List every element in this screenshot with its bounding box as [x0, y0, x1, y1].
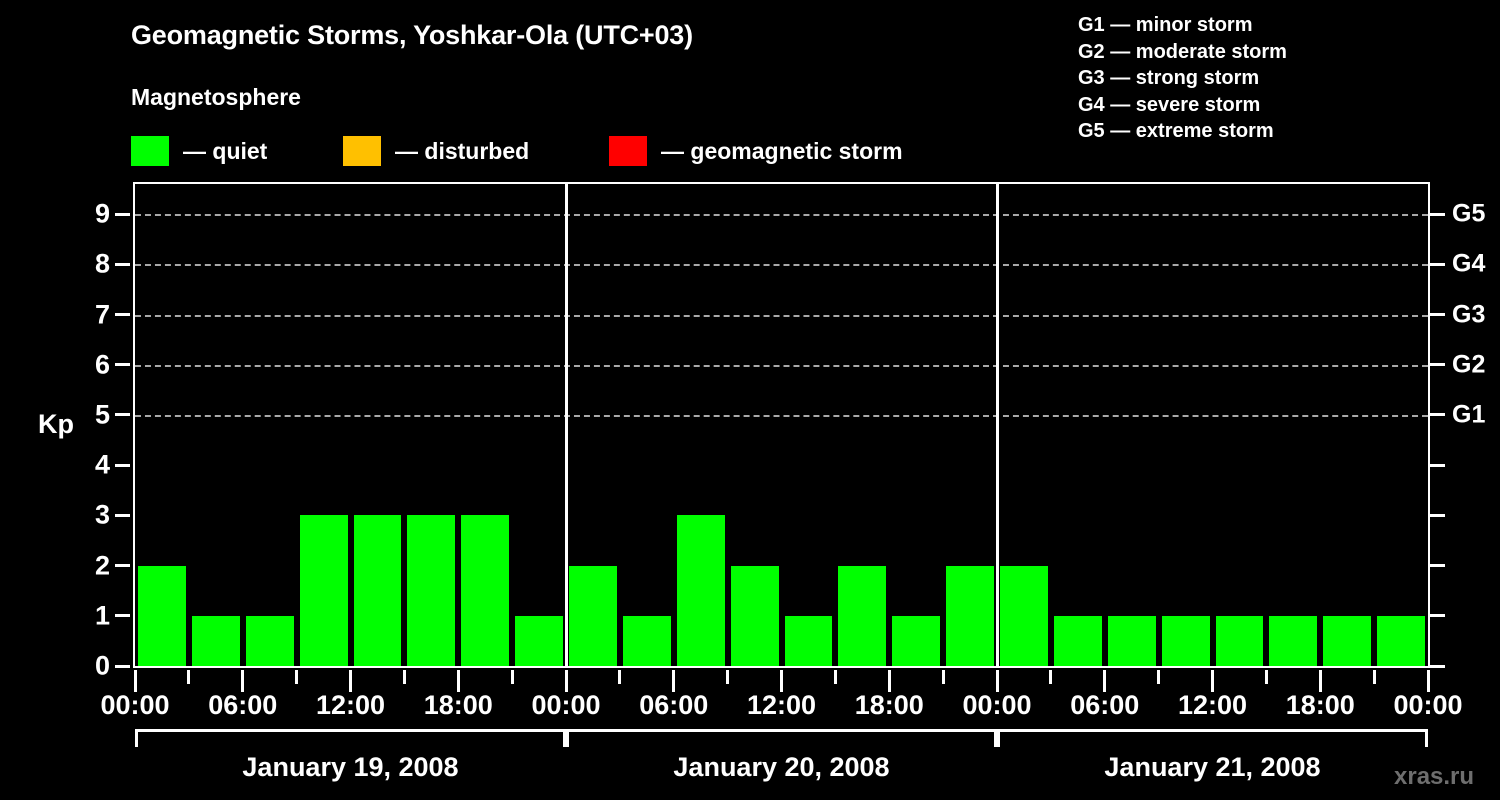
bar[interactable]	[623, 616, 671, 666]
bar[interactable]	[1162, 616, 1210, 666]
bar[interactable]	[138, 566, 186, 666]
y-axis-tick-6	[115, 363, 130, 366]
y-axis-label-0: 0	[66, 651, 110, 682]
x-axis-tick	[134, 670, 137, 692]
x-axis-label: 00:00	[1393, 690, 1462, 721]
x-axis-label: 06:00	[1070, 690, 1139, 721]
geomagnetic-storm-chart: Geomagnetic Storms, Yoshkar-Ola (UTC+03)…	[0, 0, 1500, 800]
x-axis-tick	[996, 670, 999, 692]
x-axis-label: 00:00	[531, 690, 600, 721]
right-axis-tick-kp-3	[1430, 514, 1445, 517]
gridline-kp-8	[135, 264, 1428, 266]
quiet-swatch	[131, 136, 169, 166]
bar[interactable]	[407, 515, 455, 666]
bar[interactable]	[1377, 616, 1425, 666]
bar[interactable]	[300, 515, 348, 666]
x-axis-tick	[1211, 670, 1214, 692]
x-axis-label: 00:00	[962, 690, 1031, 721]
y-axis-tick-8	[115, 263, 130, 266]
gridline-kp-9	[135, 214, 1428, 216]
y-axis-tick-4	[115, 464, 130, 467]
x-axis-tick	[888, 670, 891, 692]
right-axis-tick-kp-4	[1430, 464, 1445, 467]
y-axis-tick-7	[115, 313, 130, 316]
y-axis-tick-5	[115, 413, 130, 416]
x-axis-tick	[1265, 670, 1268, 684]
x-axis-label: 12:00	[1178, 690, 1247, 721]
y-axis-label-1: 1	[66, 600, 110, 631]
bar[interactable]	[246, 616, 294, 666]
bar[interactable]	[1323, 616, 1371, 666]
x-axis-tick	[295, 670, 298, 684]
y-axis-tick-2	[115, 564, 130, 567]
gscale-legend: G1 — minor storm G2 — moderate storm G3 …	[1078, 12, 1498, 145]
magnetosphere-legend: — quiet — disturbed — geomagnetic storm	[131, 133, 991, 169]
storm-swatch	[609, 136, 647, 166]
bar[interactable]	[785, 616, 833, 666]
bar[interactable]	[1216, 616, 1264, 666]
y-axis-label-7: 7	[66, 299, 110, 330]
gscale-line-g3: G3 — strong storm	[1078, 65, 1498, 92]
x-axis-label: 06:00	[639, 690, 708, 721]
x-axis-tick	[672, 670, 675, 692]
x-axis-label: 06:00	[208, 690, 277, 721]
date-bracket	[566, 729, 997, 747]
gscale-line-g1: G1 — minor storm	[1078, 12, 1498, 39]
day-separator	[996, 184, 999, 666]
date-label: January 20, 2008	[673, 752, 889, 783]
plot-area	[133, 182, 1430, 668]
g-scale-label-g4: G4	[1452, 250, 1485, 279]
x-axis-tick	[1373, 670, 1376, 684]
y-axis-label-2: 2	[66, 550, 110, 581]
y-axis-tick-3	[115, 514, 130, 517]
gridline-kp-5	[135, 415, 1428, 417]
date-label: January 21, 2008	[1104, 752, 1320, 783]
right-axis-tick-kp-8	[1430, 263, 1445, 266]
y-axis-tick-0	[115, 665, 130, 668]
right-axis-tick-kp-6	[1430, 363, 1445, 366]
y-axis-label-9: 9	[66, 199, 110, 230]
bar[interactable]	[1269, 616, 1317, 666]
x-axis-tick	[834, 670, 837, 684]
y-axis-tick-1	[115, 614, 130, 617]
right-axis-tick-kp-0	[1430, 665, 1445, 668]
bar[interactable]	[354, 515, 402, 666]
y-axis-label-8: 8	[66, 249, 110, 280]
x-axis-label: 18:00	[1286, 690, 1355, 721]
x-axis-tick	[241, 670, 244, 692]
right-axis-tick-kp-5	[1430, 413, 1445, 416]
bar[interactable]	[192, 616, 240, 666]
gridline-kp-6	[135, 365, 1428, 367]
x-axis-tick	[1319, 670, 1322, 692]
x-axis-tick	[618, 670, 621, 684]
x-axis-tick	[403, 670, 406, 684]
g-scale-label-g5: G5	[1452, 200, 1485, 229]
bar[interactable]	[515, 616, 563, 666]
bar[interactable]	[461, 515, 509, 666]
x-axis-tick	[457, 670, 460, 692]
g-scale-label-g1: G1	[1452, 400, 1485, 429]
bar[interactable]	[946, 566, 994, 666]
right-axis-tick-kp-2	[1430, 564, 1445, 567]
x-axis-tick	[511, 670, 514, 684]
y-axis-labels: 0123456789	[60, 182, 110, 668]
legend-label-storm: — geomagnetic storm	[661, 138, 903, 165]
bar[interactable]	[677, 515, 725, 666]
bar[interactable]	[1000, 566, 1048, 666]
bar[interactable]	[1108, 616, 1156, 666]
x-axis-tick	[187, 670, 190, 684]
legend-label-disturbed: — disturbed	[395, 138, 529, 165]
x-axis-tick	[1157, 670, 1160, 684]
x-axis-tick	[1103, 670, 1106, 692]
x-axis-label: 12:00	[316, 690, 385, 721]
bar[interactable]	[731, 566, 779, 666]
date-bracket	[135, 729, 566, 747]
gscale-line-g4: G4 — severe storm	[1078, 92, 1498, 119]
legend-item-storm: — geomagnetic storm	[609, 133, 903, 169]
disturbed-swatch	[343, 136, 381, 166]
y-axis-tick-9	[115, 213, 130, 216]
y-axis-label-5: 5	[66, 399, 110, 430]
x-axis-tick	[780, 670, 783, 692]
x-axis-label: 00:00	[100, 690, 169, 721]
x-axis-label: 18:00	[855, 690, 924, 721]
bar[interactable]	[892, 616, 940, 666]
x-axis-label: 12:00	[747, 690, 816, 721]
date-label: January 19, 2008	[242, 752, 458, 783]
g-scale-label-g2: G2	[1452, 350, 1485, 379]
gscale-line-g5: G5 — extreme storm	[1078, 118, 1498, 145]
x-axis-tick	[726, 670, 729, 684]
g-scale-label-g3: G3	[1452, 300, 1485, 329]
y-axis-label-6: 6	[66, 349, 110, 380]
y-axis-label-4: 4	[66, 450, 110, 481]
legend-item-quiet: — quiet	[131, 133, 267, 169]
bar[interactable]	[569, 566, 617, 666]
x-axis-tick	[349, 670, 352, 692]
right-axis-tick-kp-1	[1430, 614, 1445, 617]
bar[interactable]	[838, 566, 886, 666]
y-axis-label-3: 3	[66, 500, 110, 531]
legend-item-disturbed: — disturbed	[343, 133, 529, 169]
x-axis-label: 18:00	[424, 690, 493, 721]
right-axis-tick-kp-7	[1430, 313, 1445, 316]
page-title: Geomagnetic Storms, Yoshkar-Ola (UTC+03)	[131, 20, 693, 51]
x-axis-tick	[565, 670, 568, 692]
bar[interactable]	[1054, 616, 1102, 666]
right-axis-tick-kp-9	[1430, 213, 1445, 216]
legend-label-quiet: — quiet	[183, 138, 267, 165]
gridline-kp-7	[135, 315, 1428, 317]
gscale-line-g2: G2 — moderate storm	[1078, 39, 1498, 66]
date-bracket	[997, 729, 1428, 747]
chart-subtitle: Magnetosphere	[131, 84, 301, 111]
x-axis-tick	[1049, 670, 1052, 684]
plot-inner	[135, 184, 1428, 666]
watermark: xras.ru	[1394, 763, 1474, 791]
x-axis-tick	[1427, 670, 1430, 692]
day-separator	[565, 184, 568, 666]
x-axis-tick	[942, 670, 945, 684]
